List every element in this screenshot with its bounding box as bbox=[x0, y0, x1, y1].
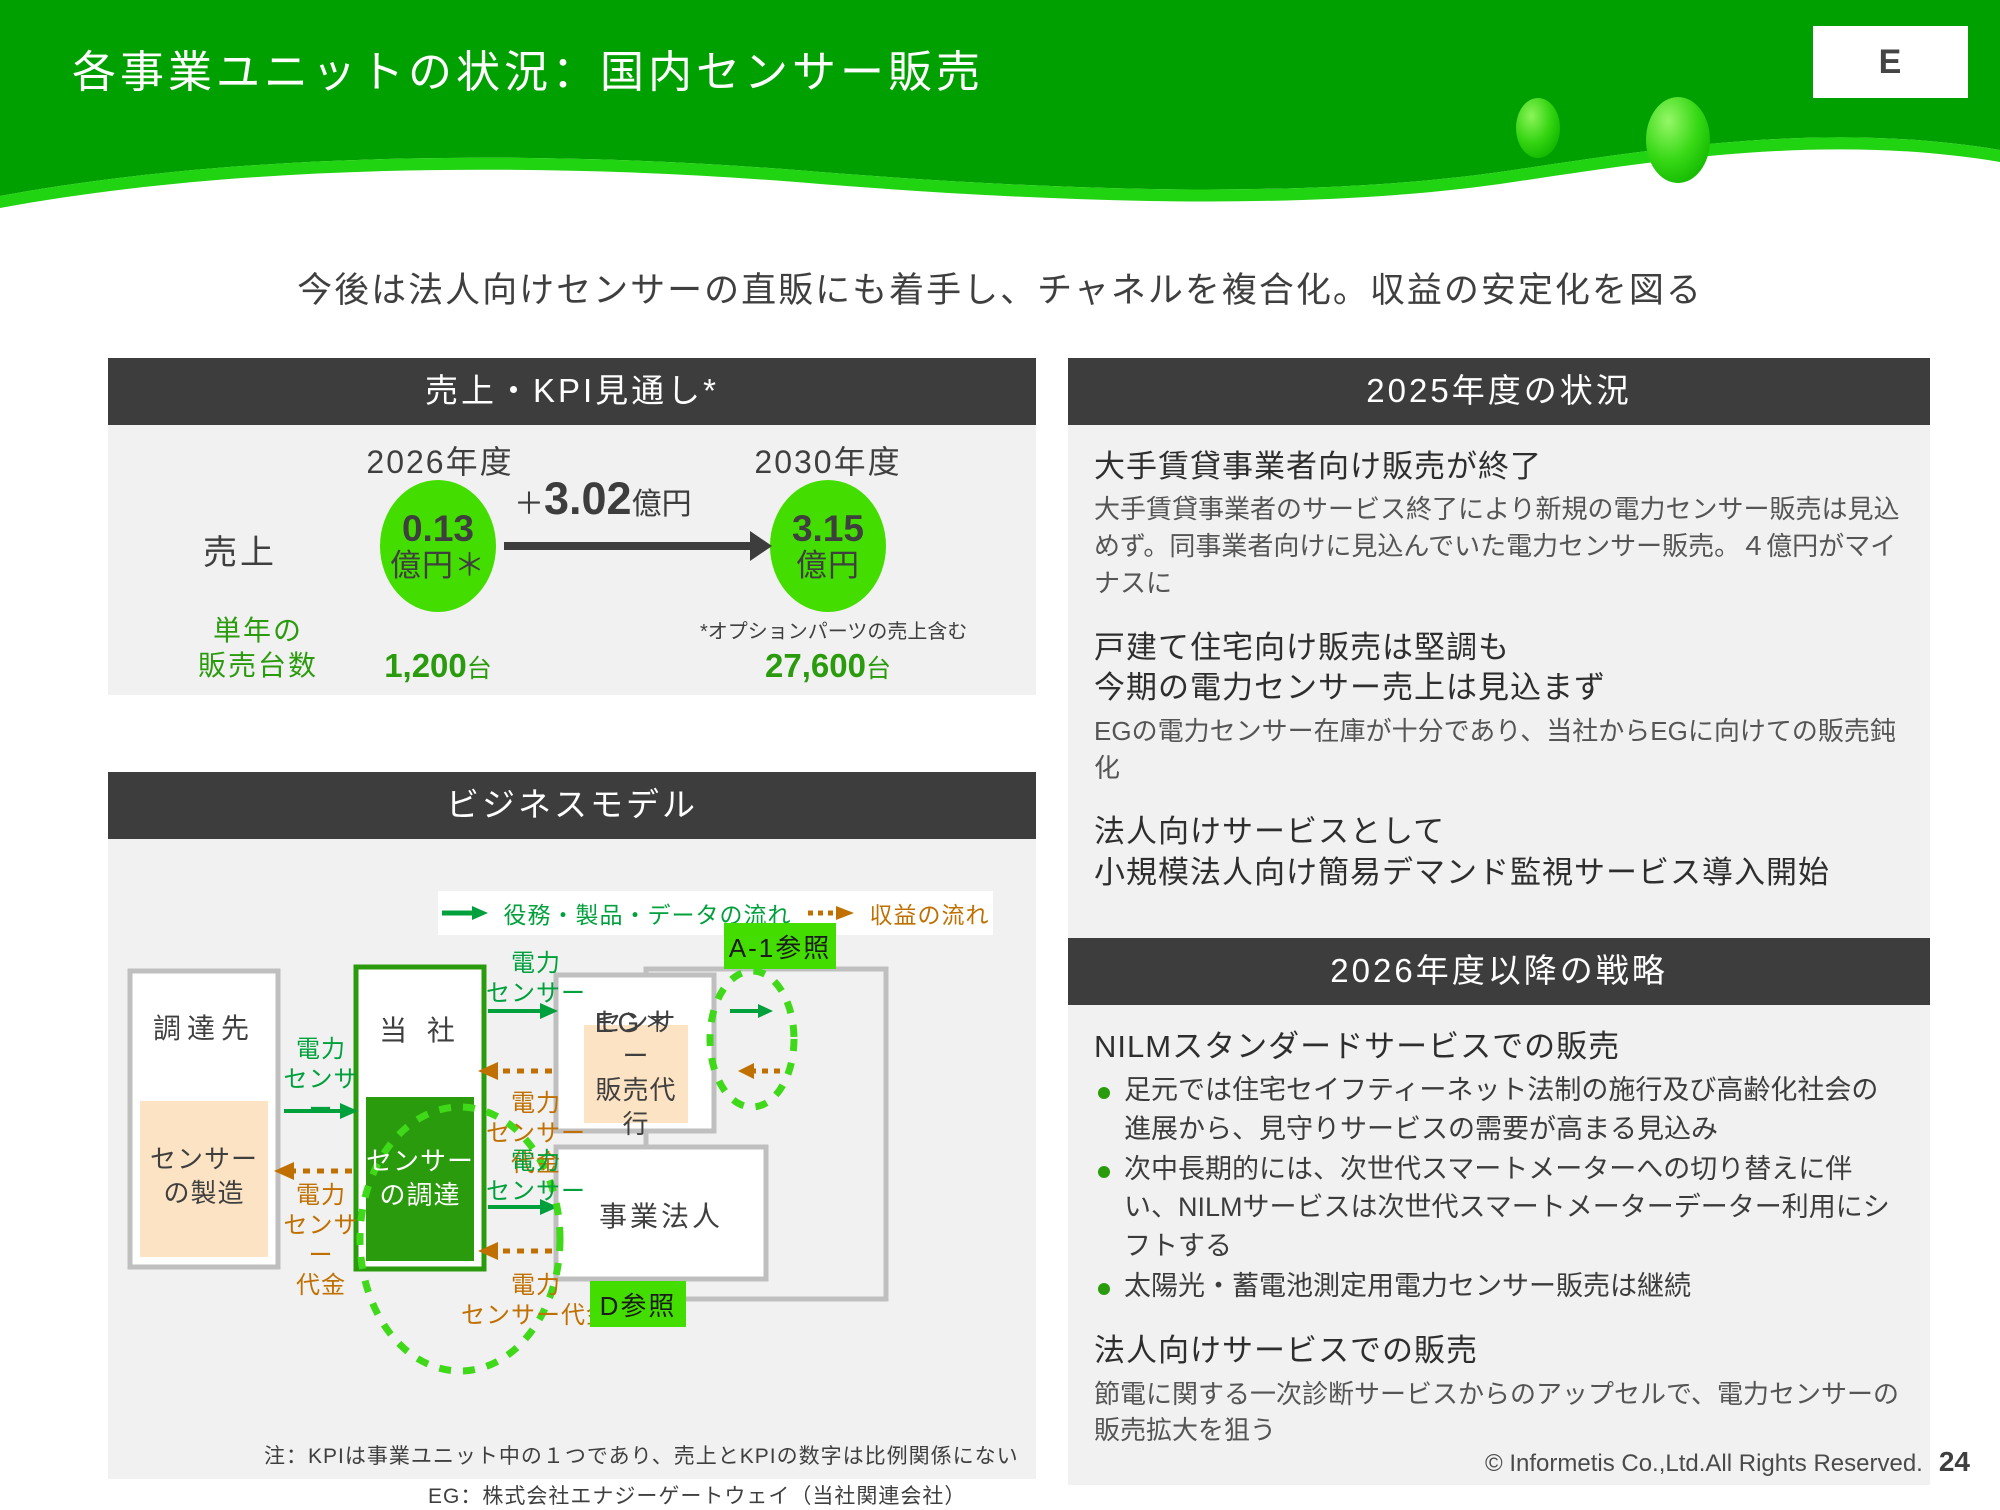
ref-badge-d[interactable]: D参照 bbox=[590, 1281, 686, 1327]
kpi-delta-unit: 億円 bbox=[632, 488, 692, 521]
flow-label-fee-supplier: 電力 センサー 代金 bbox=[278, 1181, 364, 1301]
kpi-delta-value: 3.02 bbox=[544, 473, 632, 524]
status-block-heading: 戸建て住宅向け販売は堅調も 今期の電力センサー売上は見込まず bbox=[1094, 628, 1904, 709]
kpi-unit-2030: 億円 bbox=[796, 549, 860, 584]
kpi-panel-header: 売上・KPI見通し* bbox=[108, 358, 1036, 425]
status-block-heading: 大手賃貸事業者向け販売が終了 bbox=[1094, 447, 1904, 487]
box-supplier-inner-label: センサー の製造 bbox=[140, 1099, 268, 1255]
legend-dotted-arrow-icon bbox=[808, 905, 854, 921]
diagram-note-eg: EG：株式会社エナジーゲートウェイ（当社関連会社） bbox=[428, 1480, 966, 1510]
kpi-growth-arrow bbox=[504, 542, 752, 550]
status-block-body: 大手賃貸事業者のサービス終了により新規の電力センサー販売は見込めず。同事業者向け… bbox=[1094, 491, 1904, 602]
kpi-panel: 売上・KPI見通し* 2026年度 2030年度 売上 0.13 億円＊ 3.1… bbox=[108, 358, 1036, 695]
business-model-panel: ビジネスモデル 役務・製品・データの流れ 収益の流れ bbox=[108, 772, 1036, 1479]
kpi-circle-2030: 3.15 億円 bbox=[770, 480, 886, 612]
business-model-body: 役務・製品・データの流れ 収益の流れ bbox=[108, 839, 1036, 1479]
diagram-legend: 役務・製品・データの流れ 収益の流れ bbox=[438, 891, 993, 935]
strategy-bullet-list: 足元では住宅セイフティーネット法制の施行及び高齢化社会の進展から、見守りサービス… bbox=[1094, 1071, 1904, 1305]
list-item: 太陽光・蓄電池測定用電力センサー販売は継続 bbox=[1094, 1267, 1904, 1305]
strategy-panel: 2026年度以降の戦略 NILMスタンダードサービスでの販売 足元では住宅セイフ… bbox=[1068, 938, 1930, 1485]
box-supplier-title: 調達先 bbox=[130, 1007, 278, 1047]
unit-badge: E bbox=[1813, 26, 1968, 98]
strategy-section-2-body: 節電に関する一次診断サービスからのアップセルで、電力センサーの販売拡大を狙う bbox=[1094, 1376, 1904, 1450]
kpi-units-2026: 1,200台 bbox=[288, 647, 588, 685]
kpi-units-2030: 27,600台 bbox=[678, 647, 978, 685]
kpi-units-2030-suffix: 台 bbox=[866, 655, 891, 683]
kpi-delta: ＋3.02億円 bbox=[514, 473, 692, 525]
slide-footer: © Informetis Co.,Ltd.All Rights Reserved… bbox=[1485, 1446, 1970, 1478]
list-item: 次中長期的には、次世代スマートメーターへの切り替えに伴い、NILMサービスは次世… bbox=[1094, 1150, 1904, 1265]
page-title: 各事業ユニットの状況：国内センサー販売 bbox=[72, 36, 1672, 100]
strategy-panel-body: NILMスタンダードサービスでの販売 足元では住宅セイフティーネット法制の施行及… bbox=[1068, 1005, 1930, 1485]
header-wave-graphic bbox=[0, 0, 2000, 220]
kpi-value-2026: 0.13 bbox=[402, 508, 474, 549]
slide-header: 各事業ユニットの状況：国内センサー販売 E bbox=[0, 0, 2000, 220]
list-item: 足元では住宅セイフティーネット法制の施行及び高齢化社会の進展から、見守りサービス… bbox=[1094, 1071, 1904, 1148]
box-corporate-title: 事業法人 bbox=[556, 1195, 766, 1235]
box-corporate: 事業法人 bbox=[556, 1147, 766, 1279]
business-model-header: ビジネスモデル bbox=[108, 772, 1036, 839]
kpi-value-2030: 3.15 bbox=[792, 508, 864, 549]
status-block-heading: 法人向けサービスとして 小規模法人向け簡易デマンド監視サービス導入開始 bbox=[1094, 812, 1904, 893]
legend-solid-arrow-icon bbox=[442, 905, 488, 921]
diagram-note-kpi: 注：KPIは事業ユニット中の１つであり、売上とKPIの数字は比例関係にない bbox=[264, 1440, 1019, 1470]
kpi-circle-2026: 0.13 億円＊ bbox=[380, 480, 496, 612]
strategy-section-1-heading: NILMスタンダードサービスでの販売 bbox=[1094, 1027, 1904, 1067]
box-company: 当 社 センサー の調達 bbox=[356, 967, 484, 1269]
status-panel-header: 2025年度の状況 bbox=[1068, 358, 1930, 425]
status-block: 法人向けサービスとして 小規模法人向け簡易デマンド監視サービス導入開始 bbox=[1094, 812, 1904, 893]
kpi-delta-prefix: ＋ bbox=[514, 488, 544, 521]
kpi-units-2026-value: 1,200 bbox=[384, 647, 467, 684]
kpi-unit-2026: 億円＊ bbox=[390, 549, 486, 584]
strategy-section-corporate: 法人向けサービスでの販売 節電に関する一次診断サービスからのアップセルで、電力セ… bbox=[1094, 1331, 1904, 1449]
status-block-body: EGの電力センサー在庫が十分であり、当社からEGに向けての販売鈍化 bbox=[1094, 713, 1904, 787]
flow-label-sensor-supplier: 電力 センサー bbox=[278, 1035, 364, 1125]
kpi-units-2030-value: 27,600 bbox=[765, 647, 866, 684]
strategy-section-2-heading: 法人向けサービスでの販売 bbox=[1094, 1331, 1904, 1371]
legend-revenue-label: 収益の流れ bbox=[870, 896, 990, 930]
kpi-label-sales: 売上 bbox=[203, 525, 277, 574]
slide-subtitle: 今後は法人向けセンサーの直販にも着手し、チャネルを複合化。収益の安定化を図る bbox=[0, 262, 2000, 313]
status-block: 大手賃貸事業者向け販売が終了 大手賃貸事業者のサービス終了により新規の電力センサ… bbox=[1094, 447, 1904, 602]
page-number: 24 bbox=[1939, 1446, 1970, 1478]
strategy-panel-header: 2026年度以降の戦略 bbox=[1068, 938, 1930, 1005]
kpi-year-right: 2030年度 bbox=[708, 437, 948, 483]
flow-label-sensor-corporate: 電力 センサー bbox=[486, 1147, 586, 1207]
ref-badge-a1[interactable]: A-1参照 bbox=[724, 923, 836, 969]
kpi-panel-body: 2026年度 2030年度 売上 0.13 億円＊ 3.15 億円 ＋3.02億… bbox=[108, 425, 1036, 695]
status-block: 戸建て住宅向け販売は堅調も 今期の電力センサー売上は見込まず EGの電力センサー… bbox=[1094, 628, 1904, 786]
strategy-section-nilm: NILMスタンダードサービスでの販売 足元では住宅セイフティーネット法制の施行及… bbox=[1094, 1027, 1904, 1305]
box-company-title: 当 社 bbox=[356, 1009, 484, 1049]
box-company-inner-label: センサー の調達 bbox=[366, 1097, 474, 1261]
flow-label-sensor-eg: 電力 センサー bbox=[486, 949, 586, 1009]
box-supplier: 調達先 センサー の製造 bbox=[130, 969, 278, 1265]
status-panel: 2025年度の状況 大手賃貸事業者向け販売が終了 大手賃貸事業者のサービス終了に… bbox=[1068, 358, 1930, 965]
box-eg-inner-label: センサー 販売代行 bbox=[584, 1025, 688, 1123]
kpi-footnote: *オプションパーツの売上含む bbox=[700, 615, 967, 644]
copyright-text: © Informetis Co.,Ltd.All Rights Reserved… bbox=[1485, 1450, 1923, 1478]
kpi-units-2026-suffix: 台 bbox=[467, 655, 492, 683]
status-panel-body: 大手賃貸事業者向け販売が終了 大手賃貸事業者のサービス終了により新規の電力センサ… bbox=[1068, 425, 1930, 965]
